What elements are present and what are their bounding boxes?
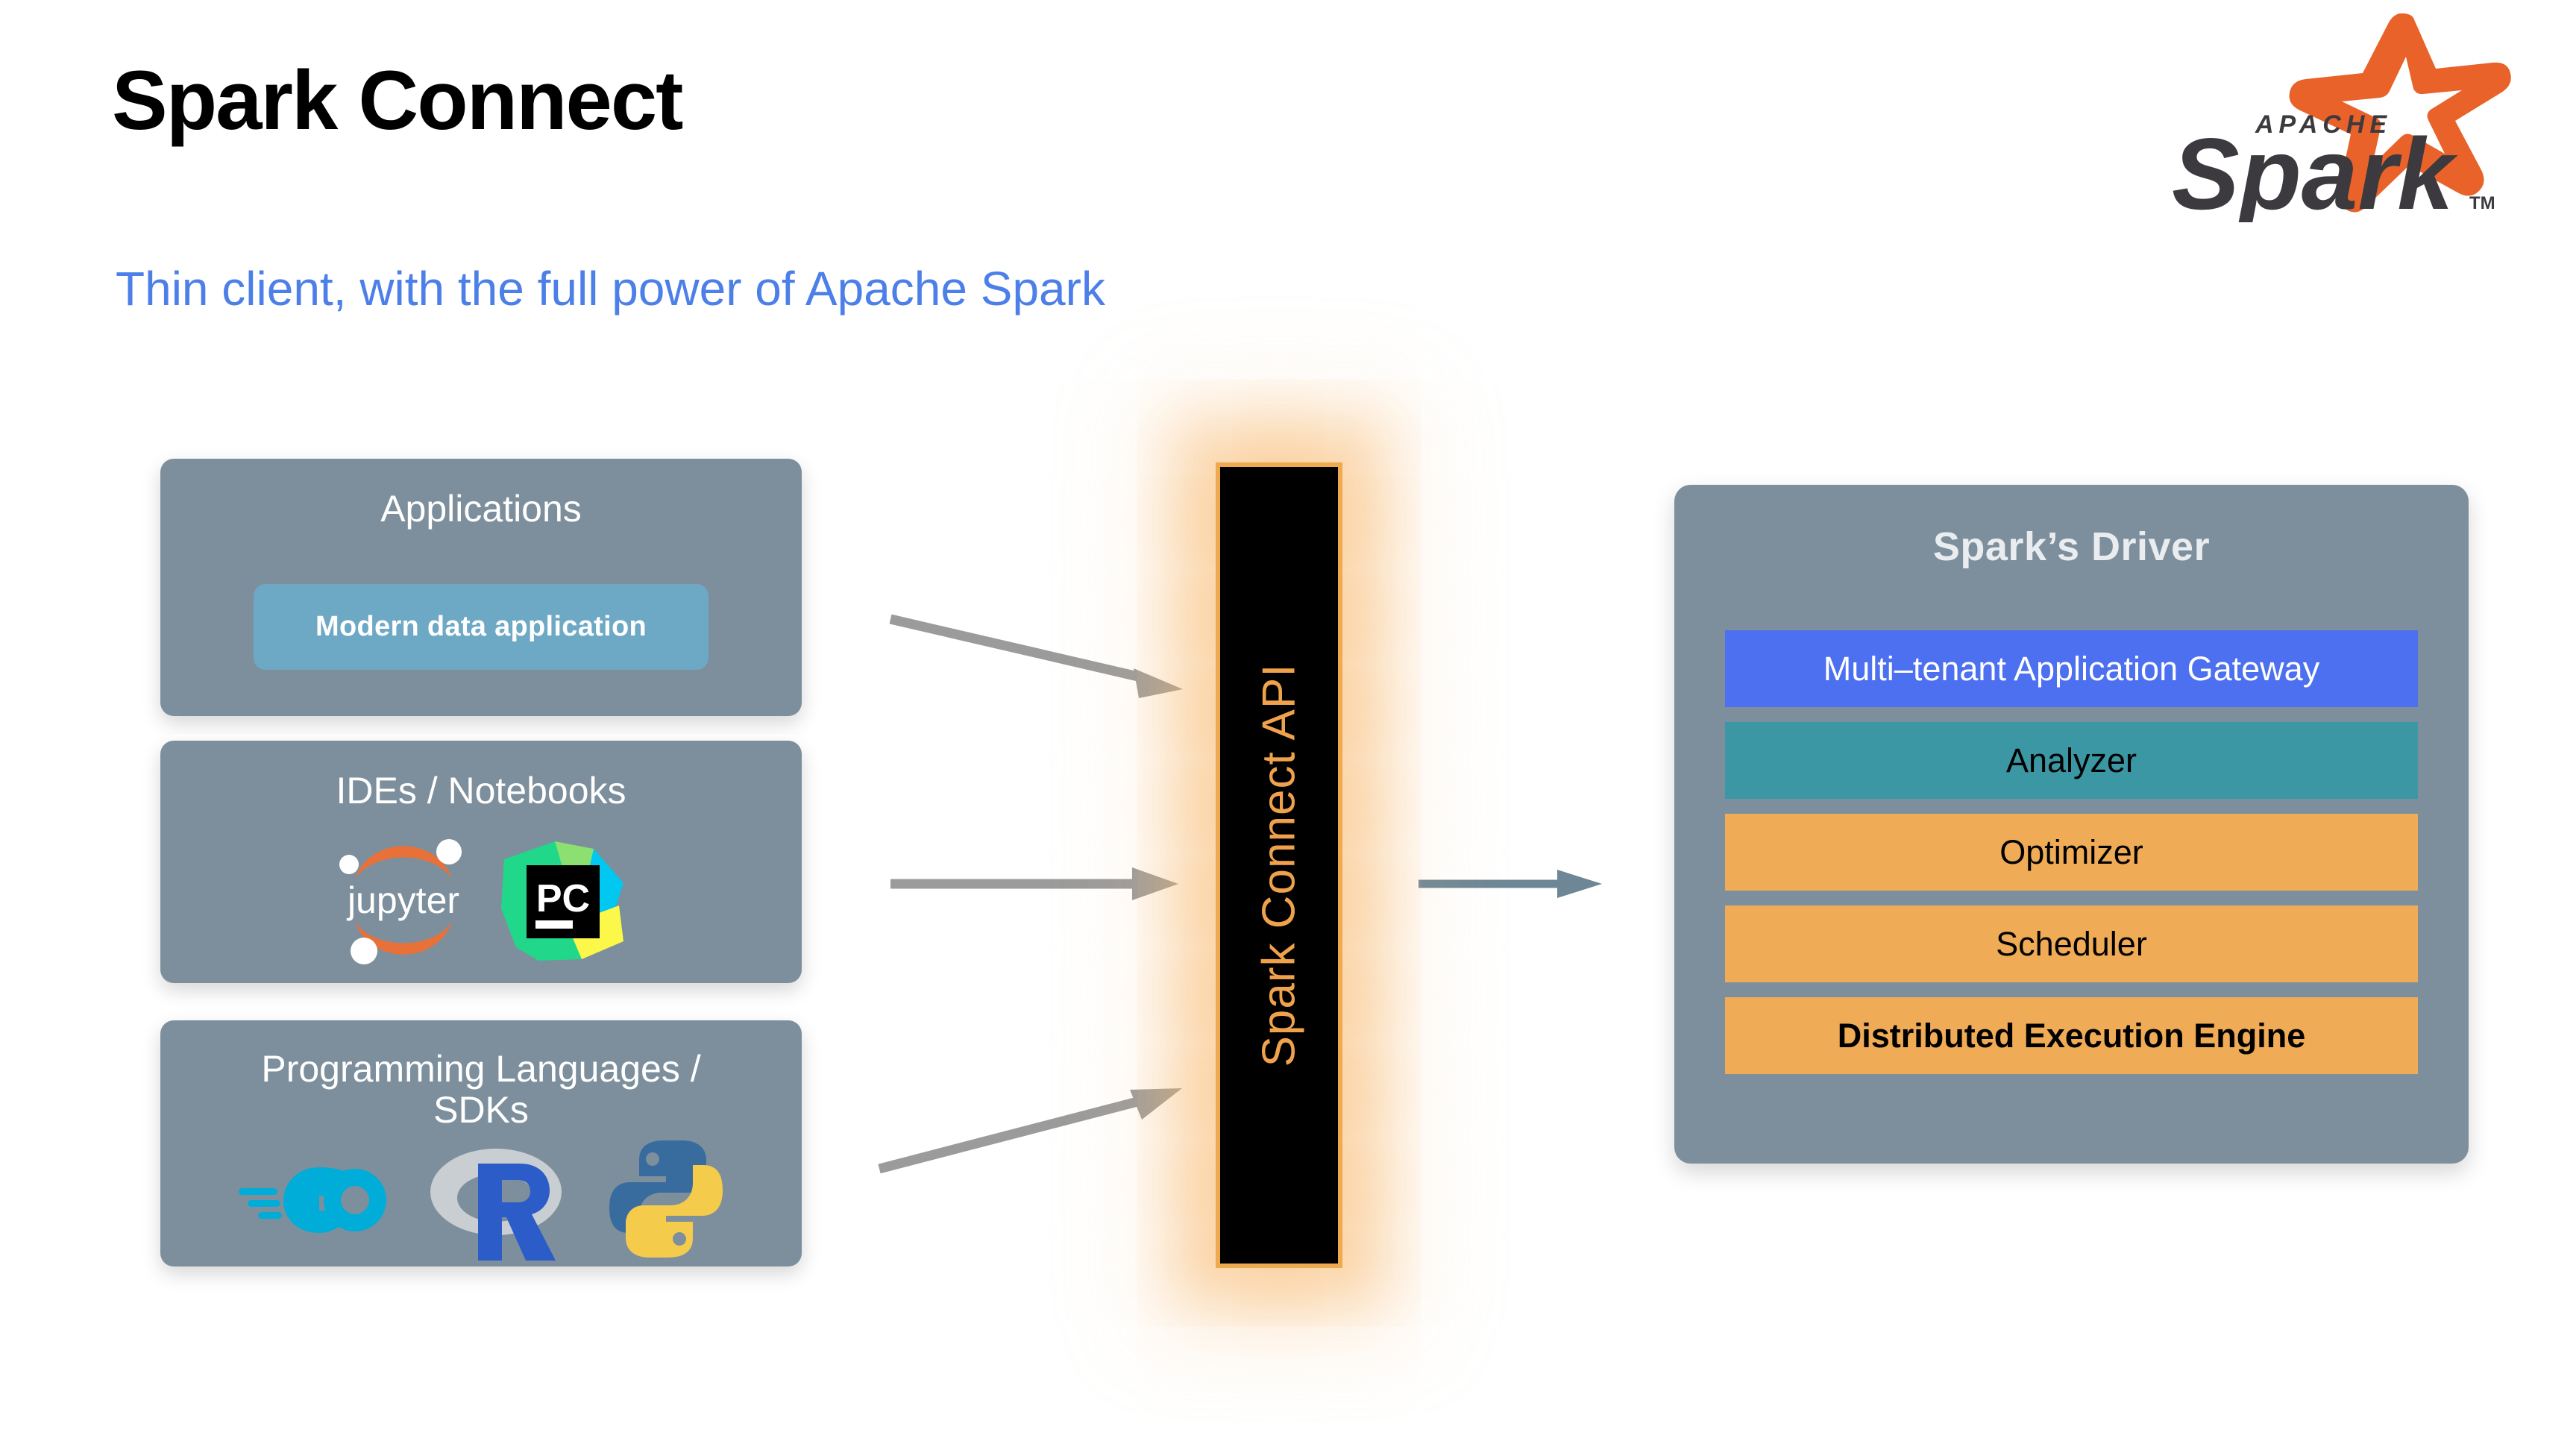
client-box-title-languages: Programming Languages / SDKs	[160, 1049, 802, 1131]
pycharm-logo: PC	[500, 837, 625, 962]
client-box-programming-languages[interactable]: Programming Languages / SDKs	[160, 1020, 802, 1266]
driver-row-analyzer[interactable]: Analyzer	[1725, 722, 2418, 799]
client-box-title-languages-line2: SDKs	[160, 1090, 802, 1131]
sparks-driver-title: Spark’s Driver	[1674, 524, 2469, 570]
pycharm-wordmark: PC	[536, 877, 590, 920]
sparks-driver-panel[interactable]: Spark’s Driver Multi–tenant Application …	[1674, 485, 2469, 1164]
spark-wordmark: Spark	[2172, 117, 2458, 222]
spark-connect-api-label: Spark Connect API	[1253, 664, 1306, 1067]
ides-logo-row: jupyter PC	[160, 829, 802, 970]
spark-connect-api-bar[interactable]: Spark Connect API	[1216, 462, 1342, 1268]
page-subtitle: Thin client, with the full power of Apac…	[116, 261, 1105, 316]
arrow-languages-to-api	[876, 1055, 1197, 1175]
client-box-ides-notebooks[interactable]: IDEs / Notebooks jupyter PC	[160, 741, 802, 983]
driver-row-optimizer[interactable]: Optimizer	[1725, 814, 2418, 891]
languages-logo-row	[160, 1134, 802, 1264]
client-box-title-ides: IDEs / Notebooks	[160, 770, 802, 812]
jupyter-wordmark: jupyter	[346, 879, 459, 921]
arrow-api-to-driver	[1417, 865, 1611, 903]
python-logo	[606, 1137, 726, 1261]
apache-spark-logo: APACHE Spark TM	[2143, 13, 2531, 222]
client-box-title-applications: Applications	[160, 489, 802, 530]
modern-data-application-pill[interactable]: Modern data application	[254, 584, 709, 670]
driver-row-scheduler[interactable]: Scheduler	[1725, 905, 2418, 982]
client-box-title-languages-line1: Programming Languages /	[160, 1049, 802, 1090]
go-logo	[237, 1158, 386, 1240]
driver-component-stack: Multi–tenant Application Gateway Analyze…	[1725, 630, 2418, 1074]
driver-row-gateway[interactable]: Multi–tenant Application Gateway	[1725, 630, 2418, 707]
r-logo	[427, 1134, 565, 1264]
arrow-ides-to-api	[888, 861, 1201, 906]
client-box-applications[interactable]: Applications Modern data application	[160, 459, 802, 716]
page-title: Spark Connect	[112, 52, 682, 148]
jupyter-logo: jupyter	[337, 832, 470, 967]
driver-row-distributed-execution-engine[interactable]: Distributed Execution Engine	[1725, 997, 2418, 1074]
arrow-applications-to-api	[888, 612, 1201, 716]
trademark-mark: TM	[2469, 193, 2495, 213]
